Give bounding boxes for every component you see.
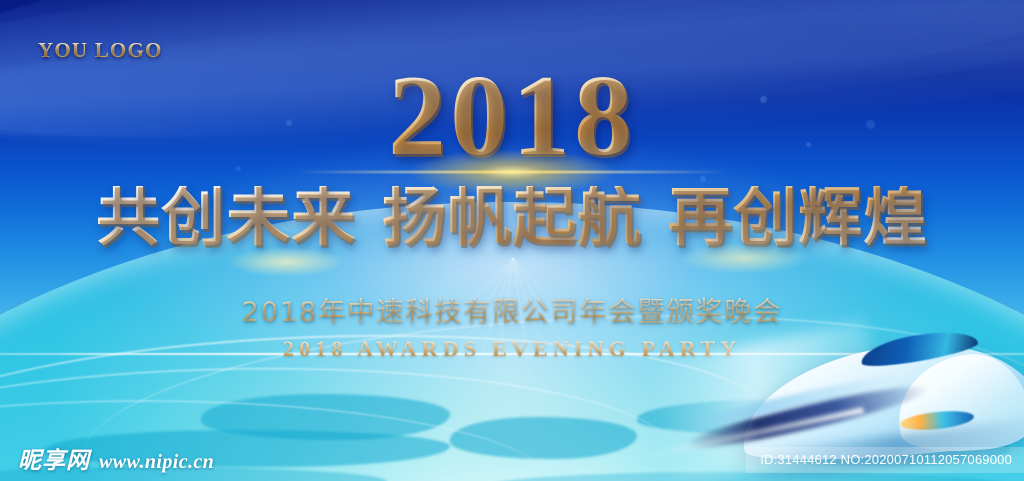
headline-segment-3: 再创辉煌 <box>668 181 928 255</box>
continent-shape <box>637 399 948 436</box>
continent-shape <box>0 467 387 481</box>
bokeh-dot <box>236 166 241 171</box>
headline-segment-2: 扬帆起航 <box>382 181 642 255</box>
main-headline: 共创未来扬帆起航再创辉煌 <box>96 186 928 250</box>
headline-segment-1: 共创未来 <box>96 181 356 255</box>
continent-shape <box>481 472 1010 481</box>
year-title: 2018 <box>388 58 636 174</box>
bokeh-dot <box>286 120 292 126</box>
continent-shape <box>450 417 637 459</box>
bokeh-dot <box>866 120 875 129</box>
continent-shape <box>45 430 450 467</box>
image-id-label: ID:31444612 NO:20200710112057069000 <box>746 447 1024 473</box>
bokeh-dot <box>760 96 767 103</box>
poster-canvas: YOU LOGO 2018 共创未来扬帆起航再创辉煌 2018年中速科技有限公司… <box>0 0 1024 481</box>
brand-logo-text[interactable]: YOU LOGO <box>38 38 163 63</box>
bokeh-dot <box>806 142 811 147</box>
subtitle-chinese: 2018年中速科技有限公司年会暨颁奖晚会 <box>242 290 783 329</box>
subtitle-english: 2018 AWARDS EVENING PARTY <box>283 336 741 362</box>
